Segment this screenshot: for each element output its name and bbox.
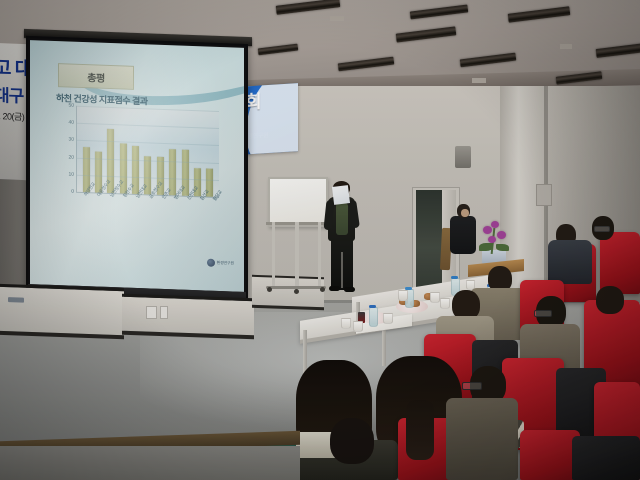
- whiteboard-leg: [272, 222, 275, 288]
- slide-logo-mark-icon: [207, 259, 215, 267]
- auditorium-seat[interactable]: [572, 436, 640, 480]
- bottle-cap-icon: [451, 276, 458, 279]
- whiteboard: [268, 177, 328, 227]
- orchid-flower-icon: [488, 236, 496, 243]
- eyeglasses-icon: [594, 226, 610, 232]
- plant-leaf: [496, 244, 509, 251]
- auditorium-seat[interactable]: [520, 430, 580, 480]
- paper-cup[interactable]: [341, 318, 351, 329]
- orchid-flower-icon: [483, 226, 492, 234]
- cabinet-label-icon: [8, 297, 24, 303]
- chart-y-tick: 0: [71, 189, 74, 195]
- orchid-flower-icon: [497, 231, 506, 239]
- audience-head: [596, 286, 624, 314]
- presenter-papers: [332, 185, 350, 205]
- ceiling-vent: [472, 78, 486, 83]
- slide-logo-text: 환경연구원: [217, 260, 234, 267]
- paper-cup[interactable]: [383, 313, 393, 324]
- slide-header-text: 총평: [87, 69, 104, 85]
- bottle-cap-icon: [369, 305, 376, 308]
- chart-y-tick: 40: [68, 120, 74, 126]
- whiteboard-leg: [318, 222, 321, 288]
- audience-torso: [446, 398, 518, 480]
- auditorium-seat[interactable]: [600, 232, 640, 294]
- slide-header-pill: 총평: [58, 63, 134, 90]
- presenter-vest: [336, 203, 348, 235]
- ponytail: [406, 400, 434, 460]
- presenter-leg-gap: [341, 252, 343, 288]
- water-bottle[interactable]: [369, 307, 378, 327]
- eyeglasses-icon: [462, 382, 482, 390]
- wall-outlet: [146, 306, 157, 319]
- wall-speaker: [455, 146, 471, 168]
- floor-foreground: [0, 446, 300, 480]
- doorway-opening[interactable]: [416, 190, 442, 295]
- chart-plot-area: 01020304050: [76, 106, 219, 198]
- cabinet-right: [252, 275, 324, 311]
- presenter-shoe: [344, 287, 355, 292]
- chart-bars: [77, 106, 219, 197]
- slide-logo: 환경연구원: [207, 259, 234, 268]
- paper-cup[interactable]: [398, 290, 408, 301]
- caster-wheel-icon: [294, 289, 299, 294]
- cabinet-middle: [122, 294, 254, 340]
- chart-y-tick: 10: [68, 171, 74, 177]
- bar-chart: 01020304050 하양천교대흥정수교남천정수교청천수교남천대교금호정수교만…: [54, 103, 220, 239]
- eyeglasses-icon: [534, 310, 552, 317]
- projected-slide: 총평 하천 건강성 지표점수 결과 01020304050 하양천교대흥정수교남…: [30, 40, 244, 292]
- screenshot-root: 고 대 대구 · 1. 20(금) 1 발표회 표회 국대학교 환경연구원 총평…: [0, 0, 640, 480]
- chart-y-tick: 30: [68, 137, 74, 143]
- attendee-face: [461, 209, 469, 217]
- attendee-body: [450, 216, 476, 254]
- chart-y-tick: 50: [68, 102, 74, 108]
- chart-x-axis-labels: 하양천교대흥정수교남천정수교청천수교남천대교금호정수교만촌교범어대교신천대교침산…: [76, 194, 218, 239]
- projector-screen: 총평 하천 건강성 지표점수 결과 01020304050 하양천교대흥정수교남…: [26, 36, 248, 310]
- audience-torso: [548, 240, 592, 284]
- wall-panel: [536, 184, 552, 206]
- caster-wheel-icon: [267, 287, 272, 292]
- orchid-flower-icon: [491, 221, 499, 228]
- cabinet-left: [0, 284, 124, 339]
- ceiling-vent: [560, 44, 572, 49]
- whiteboard-post: [295, 222, 299, 286]
- caster-wheel-icon: [320, 287, 325, 292]
- paper-cup[interactable]: [440, 298, 450, 309]
- ceiling-vent: [330, 16, 344, 21]
- audience-head: [330, 418, 374, 464]
- wall-outlet: [160, 306, 168, 319]
- paper-cup[interactable]: [430, 292, 440, 303]
- presenter-shoe: [329, 286, 340, 291]
- plant-leaf: [479, 243, 493, 251]
- chart-y-tick: 20: [68, 154, 74, 160]
- paper-cup[interactable]: [353, 321, 363, 332]
